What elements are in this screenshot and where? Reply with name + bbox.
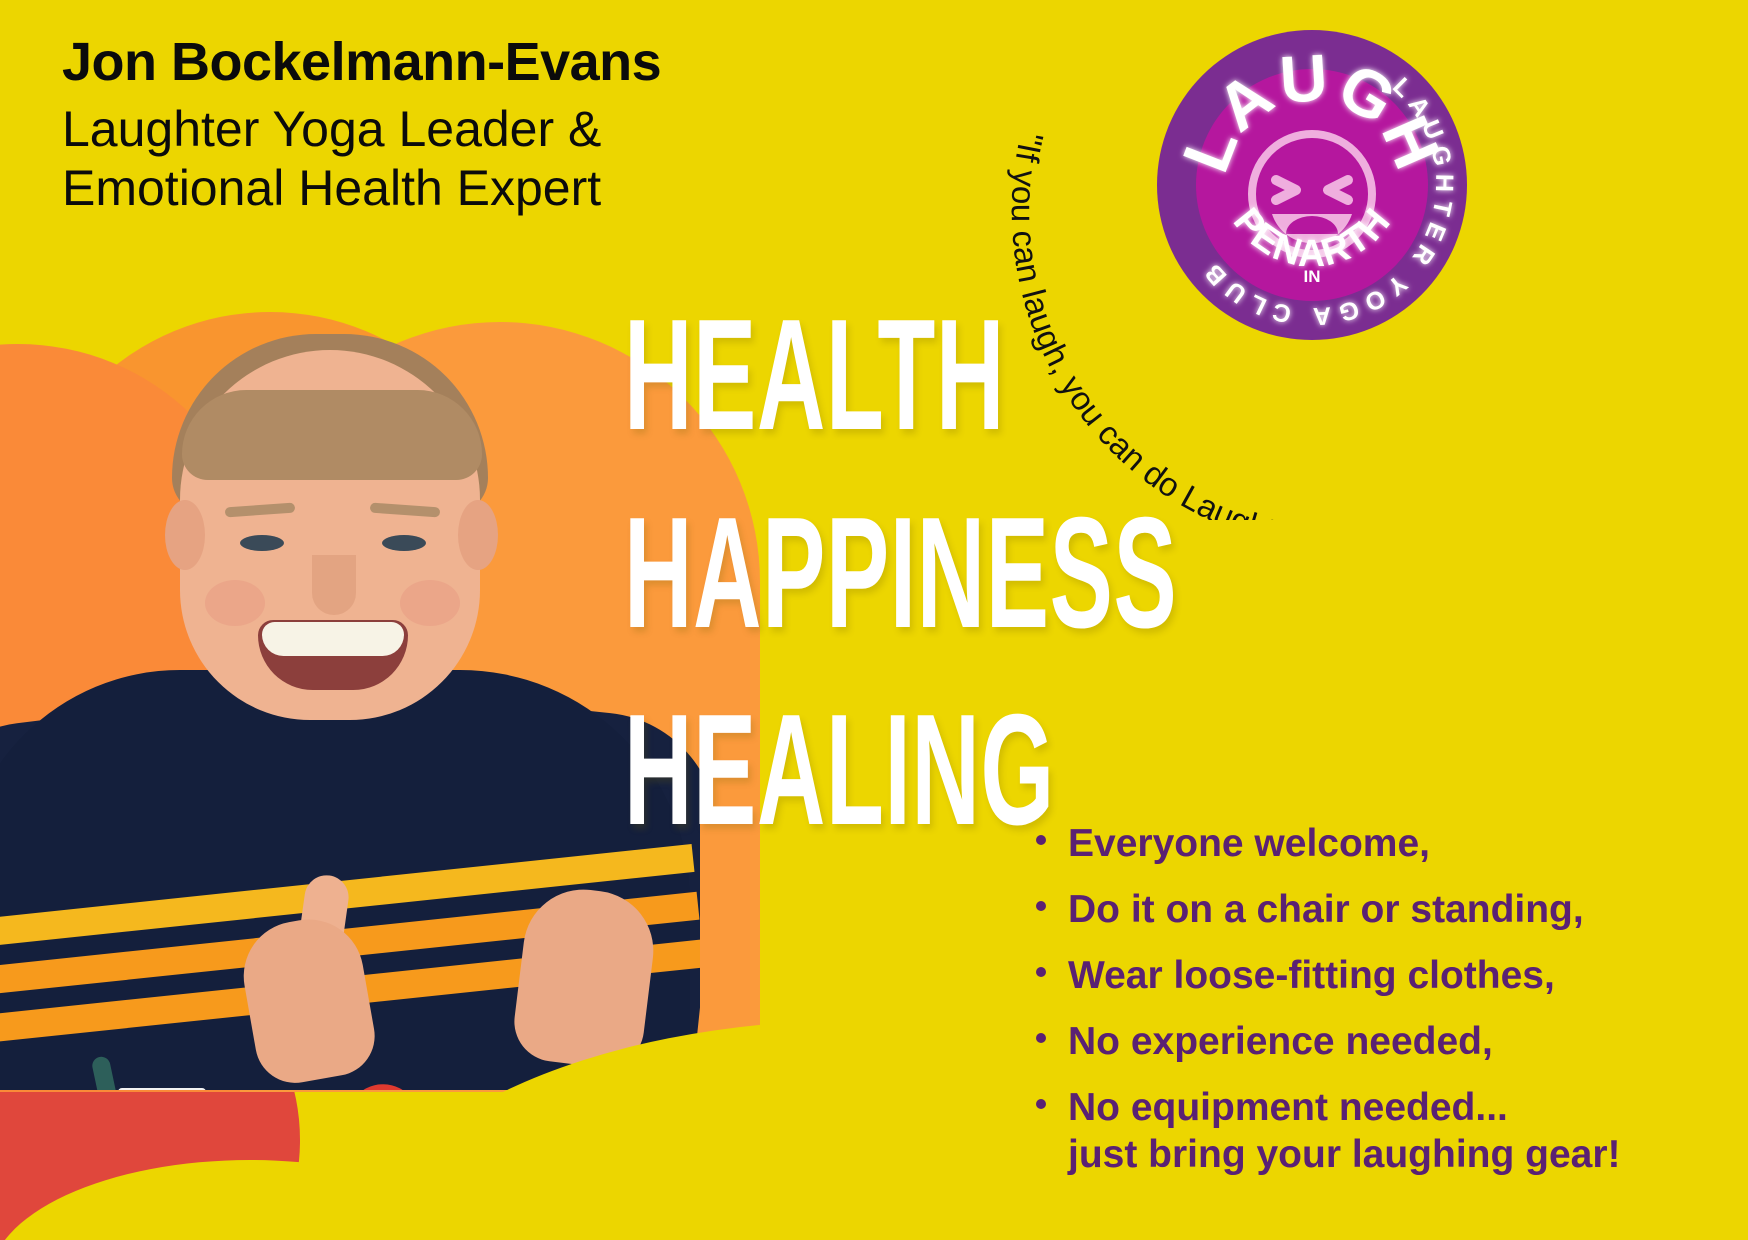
left-cheek <box>205 580 265 626</box>
portrait-photo: ellesse <box>0 290 700 1090</box>
teeth <box>262 622 404 656</box>
list-item-label: No experience needed, <box>1068 1022 1493 1061</box>
left-ear <box>165 500 205 570</box>
bullet-dot-icon <box>1036 1033 1046 1043</box>
presenter-role-line-2: Emotional Health Expert <box>62 160 661 217</box>
list-item: Do it on a chair or standing, <box>1036 890 1621 929</box>
list-item-continuation: just bring your laughing gear! <box>1068 1135 1621 1174</box>
list-item-label: Do it on a chair or standing, <box>1068 890 1584 929</box>
bullet-dot-icon <box>1036 1099 1046 1109</box>
list-item-label: Everyone welcome, <box>1068 824 1430 863</box>
list-item-label: No equipment needed... <box>1068 1088 1508 1127</box>
info-bullet-list: Everyone welcome, Do it on a chair or st… <box>1036 824 1621 1174</box>
presenter-role-line-1: Laughter Yoga Leader & <box>62 101 661 158</box>
list-item: No experience needed, <box>1036 1022 1621 1061</box>
poster-canvas: ellesse Jon Bockelmann-Evans Laughter Yo… <box>0 0 1748 1240</box>
ellesse-logo-icon <box>352 1076 414 1090</box>
presenter-name: Jon Bockelmann-Evans <box>62 34 661 91</box>
list-item-label: Wear loose-fitting clothes, <box>1068 956 1555 995</box>
right-cheek <box>400 580 460 626</box>
header-block: Jon Bockelmann-Evans Laughter Yoga Leade… <box>62 34 661 217</box>
bullet-dot-icon <box>1036 835 1046 845</box>
bullet-dot-icon <box>1036 901 1046 911</box>
list-item: Everyone welcome, <box>1036 824 1621 863</box>
ellesse-brand-label: ellesse <box>118 1088 206 1090</box>
list-item: No equipment needed... <box>1036 1088 1621 1127</box>
right-ear <box>458 500 498 570</box>
headline-line-2: HAPPINESS <box>624 498 1177 650</box>
hair-front <box>182 390 482 480</box>
left-eye <box>240 535 284 551</box>
list-item: Wear loose-fitting clothes, <box>1036 956 1621 995</box>
nose <box>312 555 356 615</box>
bullet-dot-icon <box>1036 967 1046 977</box>
right-eye <box>382 535 426 551</box>
laughter-yoga-club-logo: LAUGHTER YOGA CLUB LAUGH IN PENARTH <box>1152 24 1472 346</box>
